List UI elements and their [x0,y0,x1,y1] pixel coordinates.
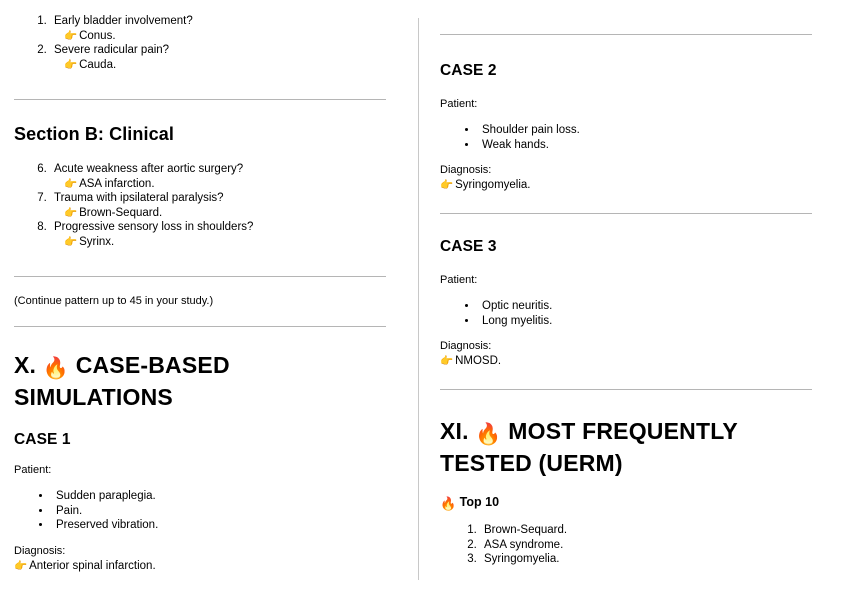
list-item: Shoulder pain loss. [478,123,812,138]
question-item: Trauma with ipsilateral paralysis? 👉Brow… [50,191,386,220]
question-text: Trauma with ipsilateral paralysis? [54,192,224,204]
answer-line: 👉Syrinx. [64,235,386,250]
question-text: Early bladder involvement? [54,15,193,27]
list-item: Brown-Sequard. [480,523,812,538]
heading-numeral: XI. [440,418,469,444]
heading-numeral: X. [14,352,36,378]
left-column: Early bladder involvement? 👉Conus. Sever… [0,0,404,596]
list-item: Weak hands. [478,138,812,153]
most-tested-heading: XI. 🔥 MOST FREQUENTLYTESTED (UERM) [440,417,812,477]
case-3-symptom-list: Optic neuritis. Long myelitis. [440,299,812,328]
question-item: Progressive sensory loss in shoulders? 👉… [50,220,386,249]
diagnosis-text: NMOSD. [455,355,501,367]
list-item: Pain. [52,504,386,519]
simulations-heading: X. 🔥 CASE-BASED SIMULATIONS [14,351,386,411]
case-3-diagnosis: 👉NMOSD. [440,354,812,369]
question-item: Early bladder involvement? 👉Conus. [50,14,386,43]
pointing-hand-icon: 👉 [64,206,77,221]
pointing-hand-icon: 👉 [64,58,77,73]
column-divider [418,18,419,580]
answer-text: Brown-Sequard. [79,207,162,219]
pointing-hand-icon: 👉 [64,29,77,44]
top-10-heading: 🔥 Top 10 [440,494,812,512]
answer-text: Cauda. [79,59,116,71]
list-item: ASA syndrome. [480,538,812,553]
case-2-patient-label: Patient: [440,97,812,112]
case-1-symptom-list: Sudden paraplegia. Pain. Preserved vibra… [14,489,386,533]
top-10-list: Brown-Sequard. ASA syndrome. Syringomyel… [440,523,812,567]
diagnosis-text: Syringomyelia. [455,179,530,191]
list-item: Optic neuritis. [478,299,812,314]
answer-text: Conus. [79,30,115,42]
pointing-hand-icon: 👉 [14,559,27,574]
question-item: Acute weakness after aortic surgery? 👉AS… [50,162,386,191]
answer-text: Syrinx. [79,236,114,248]
question-text: Progressive sensory loss in shoulders? [54,221,253,233]
section-b-heading: Section B: Clinical [14,124,386,145]
case-2-diagnosis: 👉Syringomyelia. [440,178,812,193]
case-1-heading: CASE 1 [14,431,386,449]
continue-note: (Continue pattern up to 45 in your study… [14,294,386,309]
case-1-diagnosis-label: Diagnosis: [14,544,386,559]
list-item: Sudden paraplegia. [52,489,386,504]
case-2-symptom-list: Shoulder pain loss. Weak hands. [440,123,812,152]
top-10-label: Top 10 [460,495,499,509]
case-3-heading: CASE 3 [440,238,812,256]
heading-title-line-2: TESTED (UERM) [440,450,623,476]
heading-title-line-1: MOST FREQUENTLY [508,418,738,444]
case-2-diagnosis-label: Diagnosis: [440,163,812,178]
question-text: Severe radicular pain? [54,44,169,56]
diagnosis-text: Anterior spinal infarction. [29,560,156,572]
question-text: Acute weakness after aortic surgery? [54,163,243,175]
answer-line: 👉Conus. [64,29,386,44]
list-item: Syringomyelia. [480,552,812,567]
list-item: Preserved vibration. [52,518,386,533]
document-page: Early bladder involvement? 👉Conus. Sever… [0,0,842,596]
case-3-diagnosis-label: Diagnosis: [440,339,812,354]
section-b-question-list: Acute weakness after aortic surgery? 👉AS… [14,162,386,249]
question-item: Severe radicular pain? 👉Cauda. [50,43,386,72]
pointing-hand-icon: 👉 [64,177,77,192]
question-list-top: Early bladder involvement? 👉Conus. Sever… [14,14,386,72]
pointing-hand-icon: 👉 [64,235,77,250]
case-1-patient-label: Patient: [14,463,386,478]
list-item: Long myelitis. [478,314,812,329]
pointing-hand-icon: 👉 [440,178,453,193]
case-2-heading: CASE 2 [440,62,812,80]
case-3-patient-label: Patient: [440,273,812,288]
answer-line: 👉Brown-Sequard. [64,206,386,221]
pointing-hand-icon: 👉 [440,354,453,369]
fire-icon: 🔥 [440,496,456,512]
answer-line: 👉ASA infarction. [64,177,386,192]
right-column: CASE 2 Patient: Shoulder pain loss. Weak… [426,0,830,596]
answer-line: 👉Cauda. [64,58,386,73]
fire-icon: 🔥 [43,355,69,383]
case-1-diagnosis: 👉Anterior spinal infarction. [14,559,386,574]
answer-text: ASA infarction. [79,178,154,190]
fire-icon: 🔥 [475,421,501,449]
